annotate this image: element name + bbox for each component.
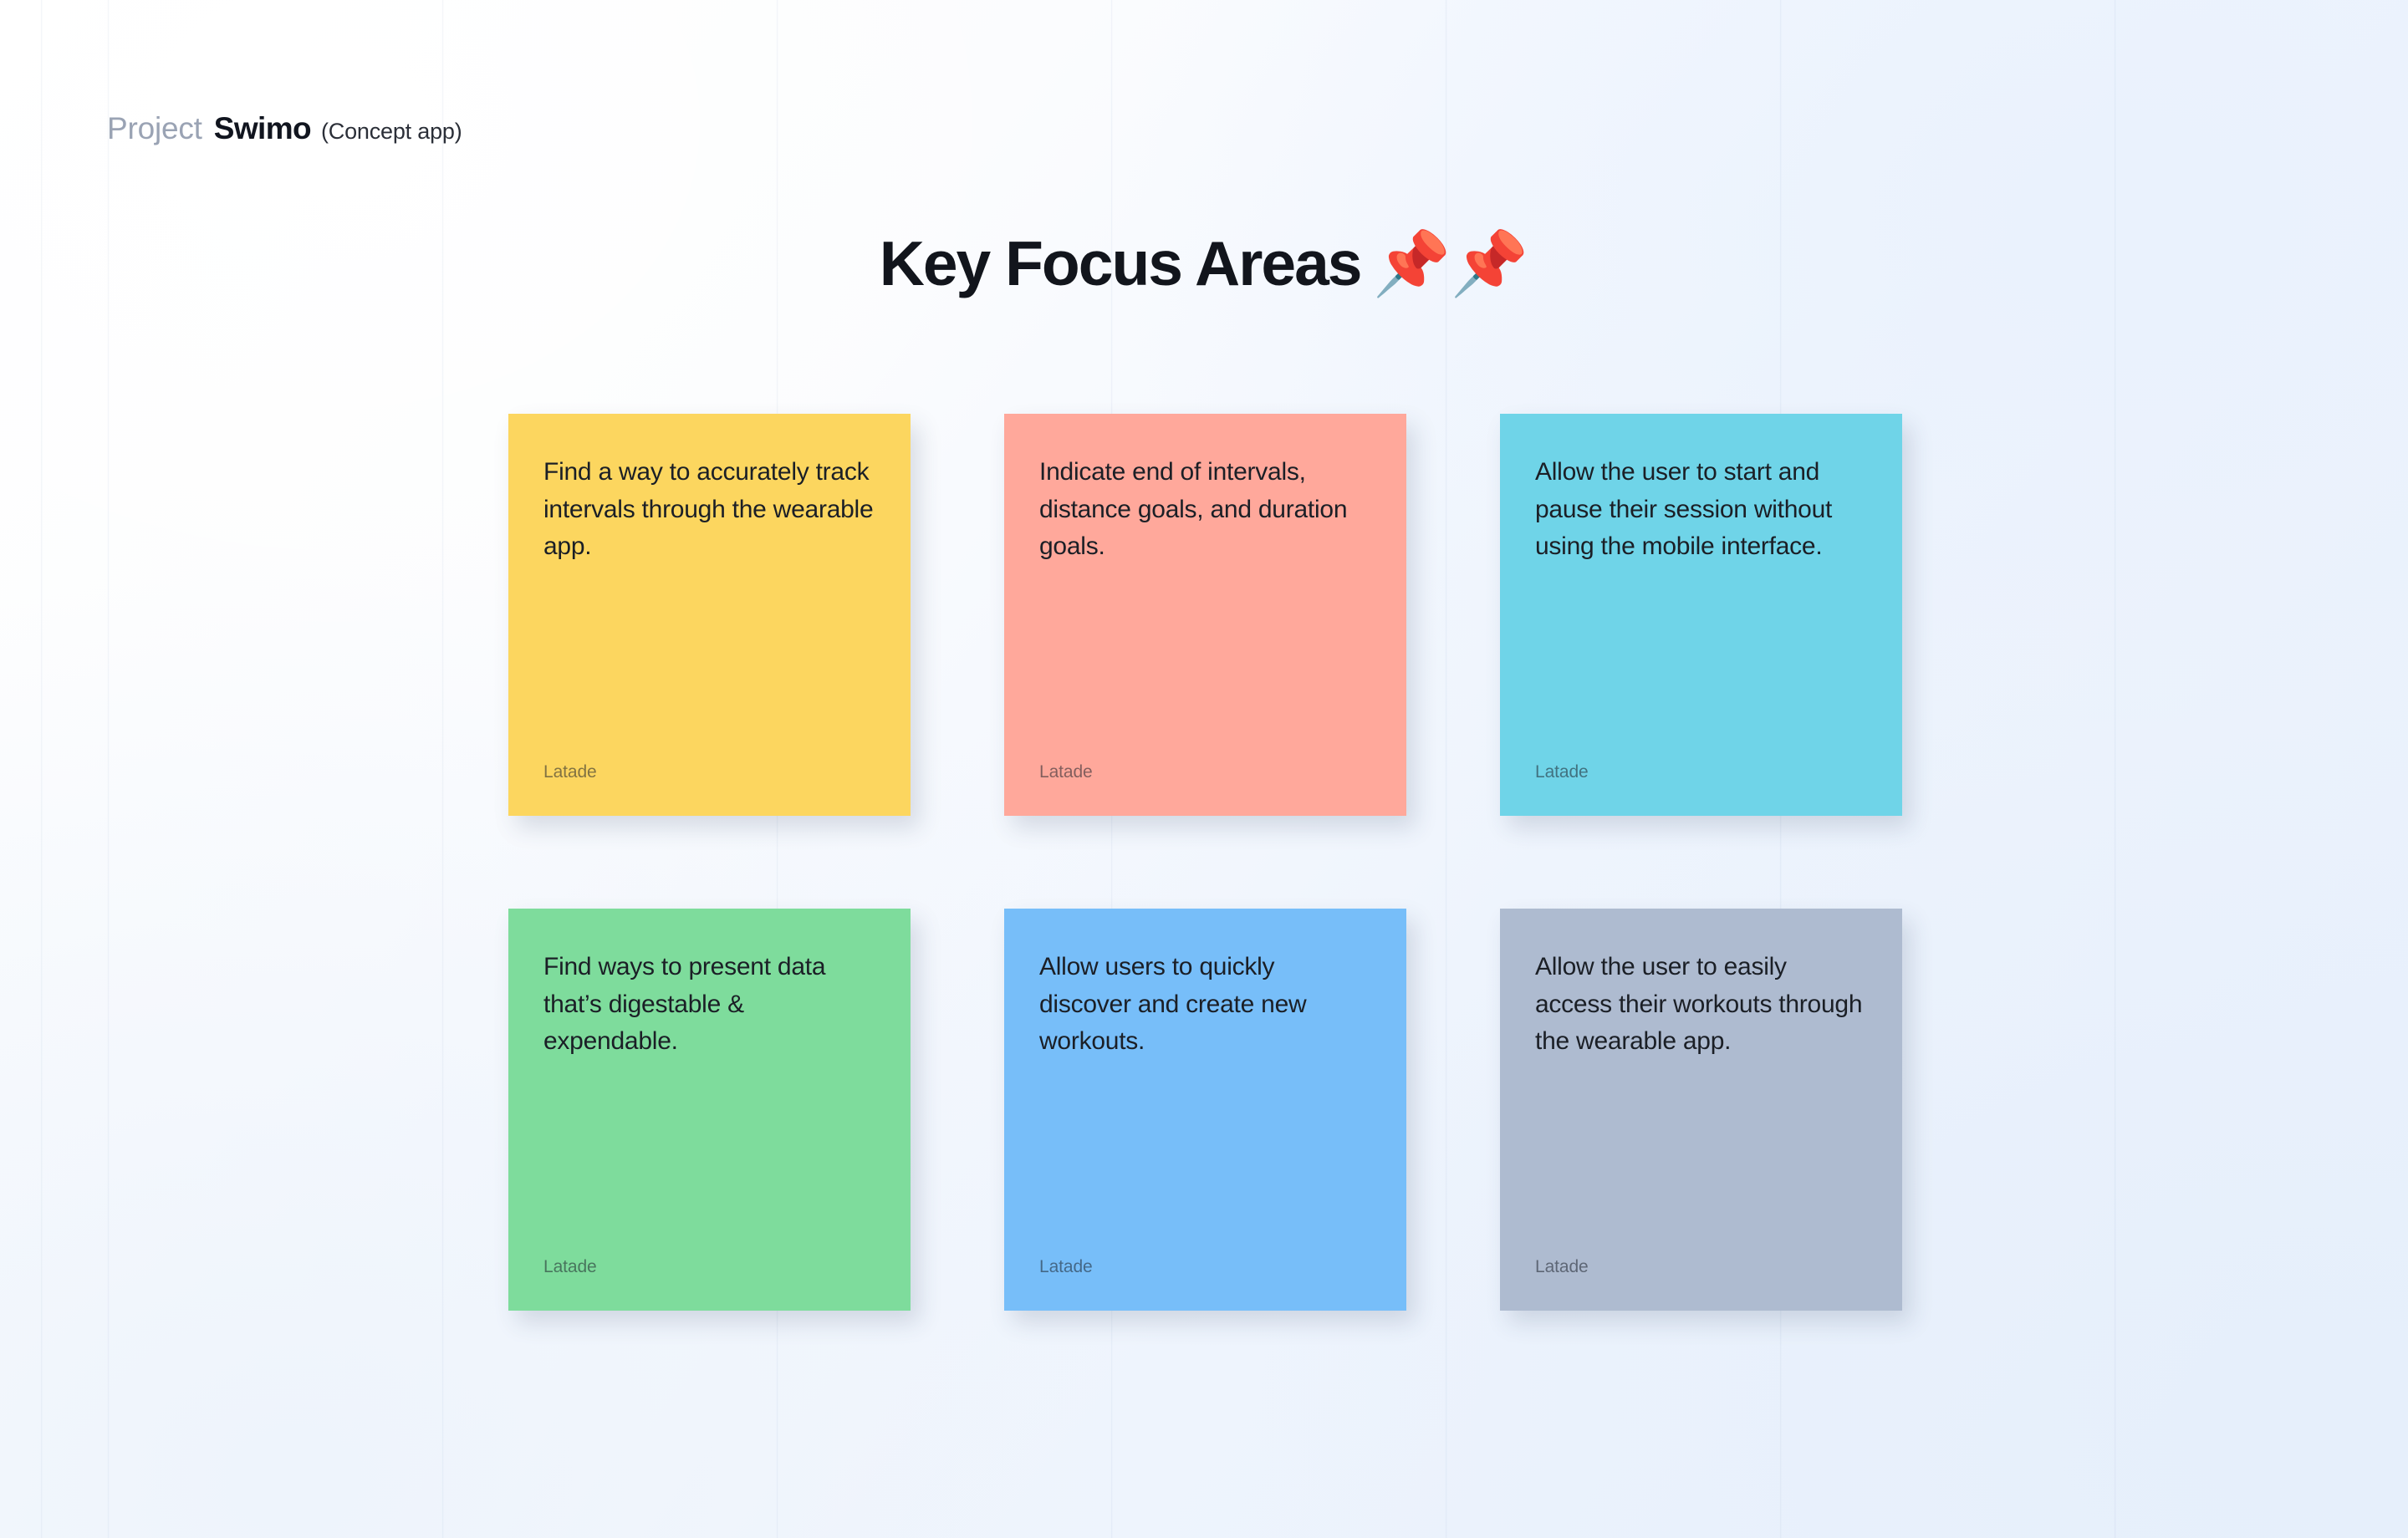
sticky-note[interactable]: Find ways to present data that’s digesta… bbox=[508, 909, 911, 1311]
sticky-notes-grid: Find a way to accurately track intervals… bbox=[508, 414, 1902, 1311]
sticky-note-text: Find ways to present data that’s digesta… bbox=[543, 949, 874, 1061]
sticky-note[interactable]: Allow users to quickly discover and crea… bbox=[1004, 909, 1406, 1311]
sticky-note-text: Allow users to quickly discover and crea… bbox=[1039, 949, 1370, 1061]
sticky-note-author: Latade bbox=[1039, 763, 1370, 781]
sticky-note-author: Latade bbox=[543, 1258, 874, 1276]
sticky-note-text: Allow the user to start and pause their … bbox=[1535, 454, 1865, 566]
pushpin-icon: 📌📌 bbox=[1373, 228, 1529, 298]
project-label: Project bbox=[107, 111, 202, 146]
sticky-note-text: Find a way to accurately track intervals… bbox=[543, 454, 874, 566]
sticky-note[interactable]: Allow the user to start and pause their … bbox=[1500, 414, 1902, 816]
sticky-note[interactable]: Indicate end of intervals, distance goal… bbox=[1004, 414, 1406, 816]
sticky-note-author: Latade bbox=[1535, 763, 1865, 781]
page-title: Key Focus Areas📌📌 bbox=[0, 227, 2408, 301]
project-name: Swimo bbox=[214, 111, 311, 146]
sticky-note-author: Latade bbox=[1535, 1258, 1865, 1276]
sticky-note[interactable]: Allow the user to easily access their wo… bbox=[1500, 909, 1902, 1311]
sticky-note-author: Latade bbox=[543, 763, 874, 781]
sticky-note-text: Allow the user to easily access their wo… bbox=[1535, 949, 1865, 1061]
sticky-note-author: Latade bbox=[1039, 1258, 1370, 1276]
project-concept-note: (Concept app) bbox=[321, 119, 462, 145]
sticky-note[interactable]: Find a way to accurately track intervals… bbox=[508, 414, 911, 816]
page-title-text: Key Focus Areas bbox=[880, 228, 1361, 298]
project-header: Project Swimo (Concept app) bbox=[107, 111, 462, 146]
sticky-note-text: Indicate end of intervals, distance goal… bbox=[1039, 454, 1370, 566]
